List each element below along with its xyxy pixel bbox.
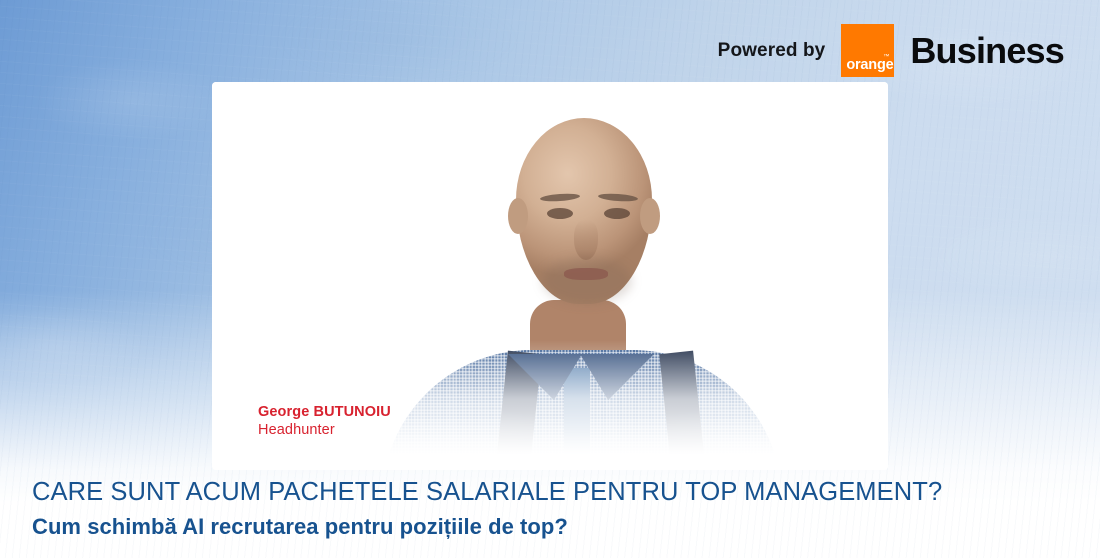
orange-logo-icon: orange ™ (841, 24, 894, 77)
branding-bar: Powered by orange ™ Business (718, 24, 1064, 77)
speaker-name: George BUTUNOIU (258, 403, 391, 421)
portrait-mouth (564, 268, 608, 280)
video-frame-stage: Powered by orange ™ Business (0, 0, 1100, 558)
video-panel: George BUTUNOIU Headhunter (212, 82, 888, 470)
caption-area: CARE SUNT ACUM PACHETELE SALARIALE PENTR… (32, 478, 1080, 540)
portrait-nose (574, 220, 598, 260)
speaker-name-overlay: George BUTUNOIU Headhunter (258, 403, 391, 440)
caption-subline: Cum schimbă AI recrutarea pentru poziții… (32, 514, 1080, 539)
portrait-shirt-placket (564, 368, 590, 470)
powered-by-label: Powered by (718, 40, 826, 62)
portrait-face-shadow (542, 258, 632, 304)
trademark-icon: ™ (883, 54, 889, 60)
portrait-eye-left (547, 208, 573, 219)
portrait-ear-right (640, 198, 660, 234)
portrait-ear-left (508, 198, 528, 234)
portrait-eye-right (604, 208, 630, 219)
speaker-role: Headhunter (258, 421, 391, 440)
business-wordmark: Business (910, 33, 1064, 69)
caption-headline: CARE SUNT ACUM PACHETELE SALARIALE PENTR… (32, 478, 1080, 507)
